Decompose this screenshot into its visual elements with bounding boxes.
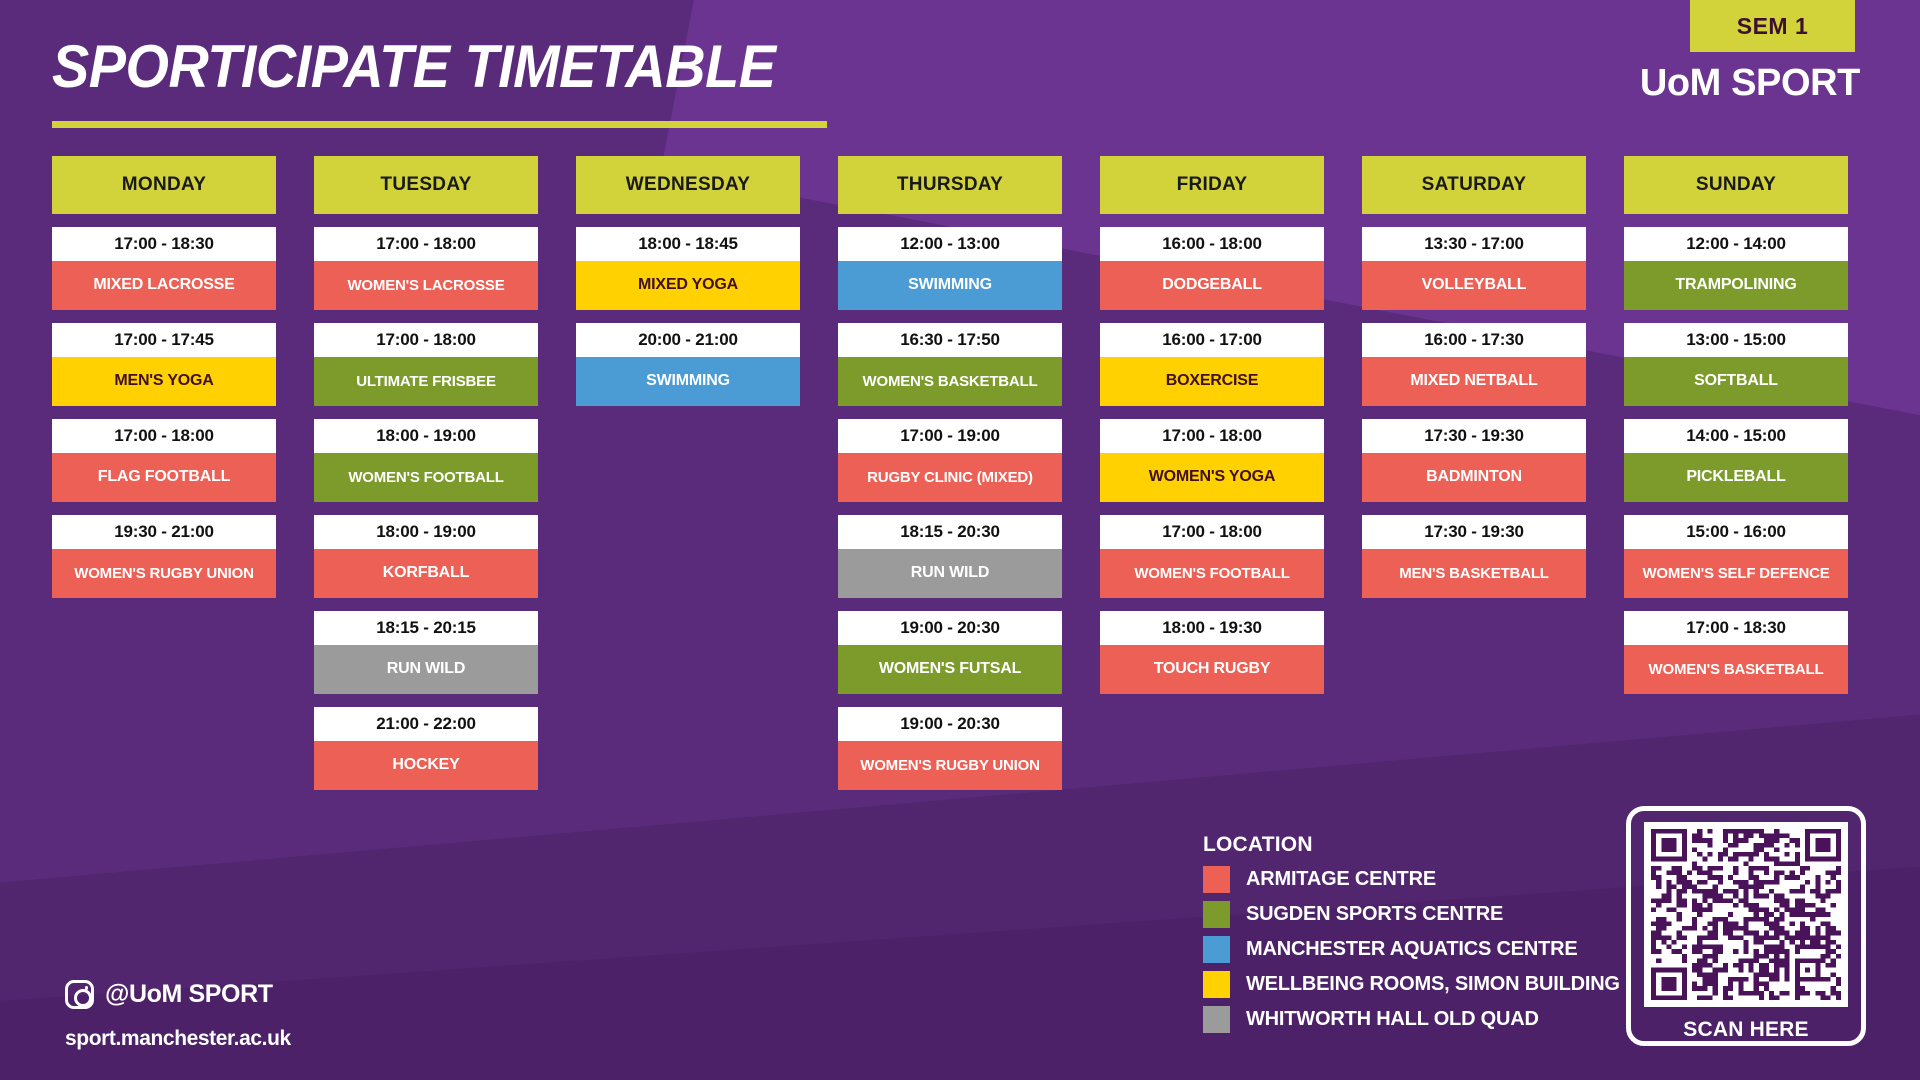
session-card[interactable]: 17:00 - 19:00RUGBY CLINIC (MIXED) xyxy=(838,419,1062,502)
session-time: 18:00 - 18:45 xyxy=(576,227,800,261)
session-activity: FLAG FOOTBALL xyxy=(52,453,276,502)
session-activity: PICKLEBALL xyxy=(1624,453,1848,502)
session-activity: MIXED YOGA xyxy=(576,261,800,310)
title-underline-rule xyxy=(52,121,827,128)
session-activity: SWIMMING xyxy=(838,261,1062,310)
day-header: SUNDAY xyxy=(1624,156,1848,214)
session-time: 18:15 - 20:30 xyxy=(838,515,1062,549)
session-activity: RUN WILD xyxy=(838,549,1062,598)
session-time: 17:30 - 19:30 xyxy=(1362,515,1586,549)
session-time: 17:00 - 18:00 xyxy=(52,419,276,453)
session-activity: HOCKEY xyxy=(314,741,538,790)
legend-item-label: WELLBEING ROOMS, SIMON BUILDING xyxy=(1246,973,1620,996)
session-time: 14:00 - 15:00 xyxy=(1624,419,1848,453)
session-time: 18:00 - 19:00 xyxy=(314,419,538,453)
session-activity: WOMEN'S RUGBY UNION xyxy=(52,549,276,598)
day-header: MONDAY xyxy=(52,156,276,214)
session-activity: BOXERCISE xyxy=(1100,357,1324,406)
session-time: 19:00 - 20:30 xyxy=(838,707,1062,741)
qr-code-image xyxy=(1644,822,1848,1007)
social-handle-label: @UoM SPORT xyxy=(105,980,273,1009)
session-activity: RUN WILD xyxy=(314,645,538,694)
session-card[interactable]: 16:00 - 17:30MIXED NETBALL xyxy=(1362,323,1586,406)
legend-item-label: WHITWORTH HALL OLD QUAD xyxy=(1246,1008,1539,1031)
session-activity: WOMEN'S RUGBY UNION xyxy=(838,741,1062,790)
session-time: 16:00 - 18:00 xyxy=(1100,227,1324,261)
session-activity: WOMEN'S FUTSAL xyxy=(838,645,1062,694)
legend-color-swatch xyxy=(1203,971,1230,998)
session-activity: SWIMMING xyxy=(576,357,800,406)
session-card[interactable]: 17:00 - 18:00ULTIMATE FRISBEE xyxy=(314,323,538,406)
legend-color-swatch xyxy=(1203,866,1230,893)
session-time: 19:30 - 21:00 xyxy=(52,515,276,549)
session-time: 20:00 - 21:00 xyxy=(576,323,800,357)
session-card[interactable]: 17:00 - 18:00WOMEN'S FOOTBALL xyxy=(1100,515,1324,598)
session-activity: WOMEN'S FOOTBALL xyxy=(314,453,538,502)
session-activity: MEN'S BASKETBALL xyxy=(1362,549,1586,598)
session-activity: DODGEBALL xyxy=(1100,261,1324,310)
day-column: MONDAY17:00 - 18:30MIXED LACROSSE17:00 -… xyxy=(52,156,276,790)
session-time: 19:00 - 20:30 xyxy=(838,611,1062,645)
day-header: WEDNESDAY xyxy=(576,156,800,214)
session-time: 12:00 - 14:00 xyxy=(1624,227,1848,261)
session-time: 17:00 - 19:00 xyxy=(838,419,1062,453)
session-time: 17:00 - 18:00 xyxy=(1100,419,1324,453)
session-activity: WOMEN'S YOGA xyxy=(1100,453,1324,502)
qr-code-block[interactable]: SCAN HERE xyxy=(1626,806,1866,1046)
legend-item-label: ARMITAGE CENTRE xyxy=(1246,868,1436,891)
session-time: 16:30 - 17:50 xyxy=(838,323,1062,357)
session-time: 17:00 - 18:00 xyxy=(1100,515,1324,549)
session-card[interactable]: 18:15 - 20:15RUN WILD xyxy=(314,611,538,694)
session-card[interactable]: 16:00 - 18:00DODGEBALL xyxy=(1100,227,1324,310)
session-card[interactable]: 18:00 - 19:00KORFBALL xyxy=(314,515,538,598)
legend-item-label: SUGDEN SPORTS CENTRE xyxy=(1246,903,1503,926)
session-card[interactable]: 19:00 - 20:30WOMEN'S RUGBY UNION xyxy=(838,707,1062,790)
session-activity: WOMEN'S LACROSSE xyxy=(314,261,538,310)
session-card[interactable]: 13:30 - 17:00VOLLEYBALL xyxy=(1362,227,1586,310)
session-time: 18:15 - 20:15 xyxy=(314,611,538,645)
day-column: TUESDAY17:00 - 18:00WOMEN'S LACROSSE17:0… xyxy=(314,156,538,790)
session-card[interactable]: 21:00 - 22:00HOCKEY xyxy=(314,707,538,790)
day-column: SATURDAY13:30 - 17:00VOLLEYBALL16:00 - 1… xyxy=(1362,156,1586,790)
legend-item-label: MANCHESTER AQUATICS CENTRE xyxy=(1246,938,1577,961)
legend-color-swatch xyxy=(1203,1006,1230,1033)
day-header: SATURDAY xyxy=(1362,156,1586,214)
session-time: 18:00 - 19:00 xyxy=(314,515,538,549)
session-card[interactable]: 16:00 - 17:00BOXERCISE xyxy=(1100,323,1324,406)
session-activity: MEN'S YOGA xyxy=(52,357,276,406)
social-handle-row[interactable]: @UoM SPORT xyxy=(65,980,273,1009)
session-card[interactable]: 17:00 - 18:30MIXED LACROSSE xyxy=(52,227,276,310)
day-column: FRIDAY16:00 - 18:00DODGEBALL16:00 - 17:0… xyxy=(1100,156,1324,790)
session-time: 16:00 - 17:30 xyxy=(1362,323,1586,357)
session-card[interactable]: 17:00 - 18:30WOMEN'S BASKETBALL xyxy=(1624,611,1848,694)
day-header: FRIDAY xyxy=(1100,156,1324,214)
session-card[interactable]: 12:00 - 13:00SWIMMING xyxy=(838,227,1062,310)
session-time: 18:00 - 19:30 xyxy=(1100,611,1324,645)
session-activity: WOMEN'S SELF DEFENCE xyxy=(1624,549,1848,598)
session-activity: VOLLEYBALL xyxy=(1362,261,1586,310)
session-card[interactable]: 14:00 - 15:00PICKLEBALL xyxy=(1624,419,1848,502)
session-time: 21:00 - 22:00 xyxy=(314,707,538,741)
session-activity: SOFTBALL xyxy=(1624,357,1848,406)
session-time: 13:30 - 17:00 xyxy=(1362,227,1586,261)
session-activity: ULTIMATE FRISBEE xyxy=(314,357,538,406)
session-card[interactable]: 17:30 - 19:30MEN'S BASKETBALL xyxy=(1362,515,1586,598)
session-activity: WOMEN'S BASKETBALL xyxy=(1624,645,1848,694)
day-column: WEDNESDAY18:00 - 18:45MIXED YOGA20:00 - … xyxy=(576,156,800,790)
session-card[interactable]: 18:00 - 18:45MIXED YOGA xyxy=(576,227,800,310)
session-time: 15:00 - 16:00 xyxy=(1624,515,1848,549)
session-card[interactable]: 19:00 - 20:30WOMEN'S FUTSAL xyxy=(838,611,1062,694)
brand-logo-text: UoM SPORT xyxy=(1640,62,1860,105)
session-activity: KORFBALL xyxy=(314,549,538,598)
page-title: SPORTICIPATE TIMETABLE xyxy=(52,32,775,101)
timetable-grid: MONDAY17:00 - 18:30MIXED LACROSSE17:00 -… xyxy=(52,156,1867,790)
session-time: 17:00 - 17:45 xyxy=(52,323,276,357)
session-time: 17:00 - 18:00 xyxy=(314,323,538,357)
legend-color-swatch xyxy=(1203,936,1230,963)
session-time: 17:00 - 18:30 xyxy=(1624,611,1848,645)
session-card[interactable]: 13:00 - 15:00SOFTBALL xyxy=(1624,323,1848,406)
timetable-poster: SPORTICIPATE TIMETABLE SEM 1 UoM SPORT M… xyxy=(0,0,1920,1080)
day-column: THURSDAY12:00 - 13:00SWIMMING16:30 - 17:… xyxy=(838,156,1062,790)
session-activity: BADMINTON xyxy=(1362,453,1586,502)
session-activity: MIXED NETBALL xyxy=(1362,357,1586,406)
session-time: 17:30 - 19:30 xyxy=(1362,419,1586,453)
session-activity: WOMEN'S FOOTBALL xyxy=(1100,549,1324,598)
session-activity: RUGBY CLINIC (MIXED) xyxy=(838,453,1062,502)
day-header: TUESDAY xyxy=(314,156,538,214)
session-time: 12:00 - 13:00 xyxy=(838,227,1062,261)
semester-badge: SEM 1 xyxy=(1690,0,1855,52)
session-time: 16:00 - 17:00 xyxy=(1100,323,1324,357)
session-card[interactable]: 18:00 - 19:30TOUCH RUGBY xyxy=(1100,611,1324,694)
session-activity: MIXED LACROSSE xyxy=(52,261,276,310)
day-header: THURSDAY xyxy=(838,156,1062,214)
session-card[interactable]: 18:15 - 20:30RUN WILD xyxy=(838,515,1062,598)
legend-color-swatch xyxy=(1203,901,1230,928)
session-card[interactable]: 17:00 - 18:00WOMEN'S LACROSSE xyxy=(314,227,538,310)
session-card[interactable]: 17:00 - 18:00FLAG FOOTBALL xyxy=(52,419,276,502)
session-activity: TOUCH RUGBY xyxy=(1100,645,1324,694)
session-activity: TRAMPOLINING xyxy=(1624,261,1848,310)
session-card[interactable]: 18:00 - 19:00WOMEN'S FOOTBALL xyxy=(314,419,538,502)
session-card[interactable]: 17:30 - 19:30BADMINTON xyxy=(1362,419,1586,502)
instagram-icon xyxy=(65,980,94,1009)
website-url[interactable]: sport.manchester.ac.uk xyxy=(65,1027,291,1051)
session-card[interactable]: 17:00 - 18:00WOMEN'S YOGA xyxy=(1100,419,1324,502)
session-card[interactable]: 16:30 - 17:50WOMEN'S BASKETBALL xyxy=(838,323,1062,406)
session-time: 13:00 - 15:00 xyxy=(1624,323,1848,357)
session-card[interactable]: 20:00 - 21:00SWIMMING xyxy=(576,323,800,406)
session-card[interactable]: 12:00 - 14:00TRAMPOLINING xyxy=(1624,227,1848,310)
session-activity: WOMEN'S BASKETBALL xyxy=(838,357,1062,406)
qr-canvas xyxy=(1651,829,1841,1000)
session-card[interactable]: 17:00 - 17:45MEN'S YOGA xyxy=(52,323,276,406)
scan-here-label: SCAN HERE xyxy=(1626,1018,1866,1042)
session-card[interactable]: 19:30 - 21:00WOMEN'S RUGBY UNION xyxy=(52,515,276,598)
session-time: 17:00 - 18:00 xyxy=(314,227,538,261)
session-time: 17:00 - 18:30 xyxy=(52,227,276,261)
day-column: SUNDAY12:00 - 14:00TRAMPOLINING13:00 - 1… xyxy=(1624,156,1848,790)
session-card[interactable]: 15:00 - 16:00WOMEN'S SELF DEFENCE xyxy=(1624,515,1848,598)
